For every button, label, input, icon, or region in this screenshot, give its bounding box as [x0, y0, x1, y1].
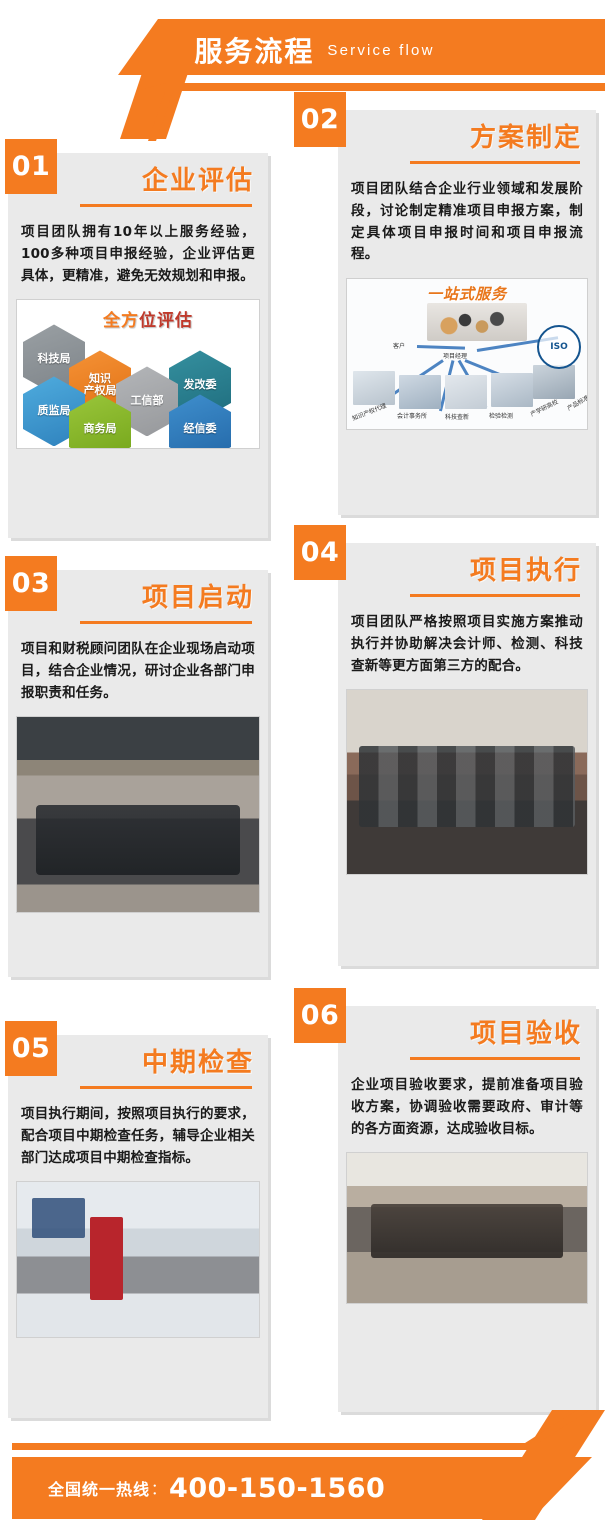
card-title: 方案制定: [352, 124, 582, 154]
step-number-badge: 05: [5, 1021, 57, 1076]
card-title: 项目执行: [352, 557, 582, 587]
card-title: 项目验收: [352, 1020, 582, 1050]
caption-part-b: 位评估: [139, 311, 193, 331]
title-underline: [410, 1057, 580, 1060]
card-header: 项目执行: [338, 543, 596, 597]
flow-node-label-project-manager: 项目经理: [443, 351, 467, 360]
step-number-badge: 03: [5, 556, 57, 611]
hotline-label: 全国统一热线: [48, 1476, 150, 1500]
step-card-03[interactable]: 03 项目启动 项目和财税顾问团队在企业现场启动项目，结合企业情况，研讨企业各部…: [8, 570, 268, 977]
flow-node-university: [533, 365, 575, 399]
card-body-text: 项目执行期间，按照项目执行的要求，配合项目中期检查任务，辅导企业相关部门达成项目…: [21, 1104, 255, 1170]
title-underline: [80, 1086, 252, 1089]
card-media-photo: [16, 1181, 260, 1338]
iso-seal-icon: ISO: [537, 325, 581, 369]
hotline-group: 全国统一热线 ： 400-150-1560: [48, 1468, 385, 1508]
hotline-phone-number[interactable]: 400-150-1560: [169, 1473, 385, 1504]
flow-node-label-customer: 客户: [393, 341, 405, 350]
step-number-badge: 06: [294, 988, 346, 1043]
photo-lobby-tour: [17, 1182, 259, 1337]
header-accent-stripe: [136, 83, 605, 91]
flow-caption-university: 产学研高校: [529, 397, 560, 418]
card-body-text: 项目团队严格按照项目实施方案推动执行并协助解决会计师、检测、科技查新等更方面第三…: [351, 612, 583, 678]
photo-working-meeting: [347, 690, 587, 874]
step-number-badge: 04: [294, 525, 346, 580]
photo-boardroom: [347, 1153, 587, 1303]
photo-conference-room: [17, 717, 259, 912]
card-media-photo: [16, 716, 260, 913]
title-underline: [410, 594, 580, 597]
hotline-separator: ：: [151, 1478, 166, 1499]
service-flow-hero-photo: [427, 303, 527, 341]
page-title-cn: 服务流程: [194, 30, 314, 70]
step-card-01[interactable]: 01 企业评估 项目团队拥有10年以上服务经验，100多种项目申报经验，企业评估…: [8, 153, 268, 538]
card-media-photo: [346, 689, 588, 875]
flow-arrow: [417, 345, 465, 350]
card-media-hexagon-diagram: 全方位评估 科技局 知识 产权局 发改委 质监局 工信部 商务局 经信委: [16, 299, 260, 449]
flow-caption-tech-search: 科技查新: [445, 412, 469, 421]
title-underline: [410, 161, 580, 164]
page-title-en: Service flow: [327, 42, 434, 59]
service-flow-caption: 一站式服务: [427, 283, 507, 304]
step-card-04[interactable]: 04 项目执行 项目团队严格按照项目实施方案推动执行并协助解决会计师、检测、科技…: [338, 543, 596, 966]
footer-accent-stripe: [12, 1443, 577, 1450]
step-number-badge: 02: [294, 92, 346, 147]
flow-node-inspection: [491, 373, 533, 407]
step-card-05[interactable]: 05 中期检查 项目执行期间，按照项目执行的要求，配合项目中期检查任务，辅导企业…: [8, 1035, 268, 1418]
step-card-02[interactable]: 02 方案制定 项目团队结合企业行业领域和发展阶段，讨论制定精准项目申报方案，制…: [338, 110, 596, 515]
header-title-group: 服务流程 Service flow: [0, 28, 605, 72]
flow-node-ip-agency: [353, 371, 395, 405]
card-media-photo: [346, 1152, 588, 1304]
service-flow-diagram: 一站式服务 客户 项目经理 ISO 知识产权代理 会计事务所 科技查新: [346, 278, 588, 430]
card-body-text: 企业项目验收要求，提前准备项目验收方案，协调验收需要政府、审计等的各方面资源，达…: [351, 1075, 583, 1141]
flow-node-tech-search: [445, 375, 487, 409]
title-underline: [80, 204, 252, 207]
hexagon-diagram: 全方位评估 科技局 知识 产权局 发改委 质监局 工信部 商务局 经信委: [17, 300, 259, 448]
title-underline: [80, 621, 252, 624]
card-body-text: 项目团队拥有10年以上服务经验，100多种项目申报经验，企业评估更具体，更精准，…: [21, 222, 255, 288]
hexagon-diagram-caption: 全方位评估: [103, 306, 193, 331]
card-media-service-flow-diagram: 一站式服务 客户 项目经理 ISO 知识产权代理 会计事务所 科技查新: [346, 278, 588, 430]
card-body-text: 项目和财税顾问团队在企业现场启动项目，结合企业情况，研讨企业各部门申报职责和任务…: [21, 639, 255, 705]
flow-caption-accounting: 会计事务所: [397, 411, 427, 420]
flow-node-accounting: [399, 375, 441, 409]
card-header: 方案制定: [338, 110, 596, 164]
caption-part-a: 全方: [103, 311, 139, 331]
step-card-06[interactable]: 06 项目验收 企业项目验收要求，提前准备项目验收方案，协调验收需要政府、审计等…: [338, 1006, 596, 1412]
flow-caption-inspection: 检验检测: [489, 411, 513, 420]
card-body-text: 项目团队结合企业行业领域和发展阶段，讨论制定精准项目申报方案，制定具体项目申报时…: [351, 179, 583, 266]
card-header: 项目验收: [338, 1006, 596, 1060]
step-number-badge: 01: [5, 139, 57, 194]
infographic-canvas: 服务流程 Service flow 01 企业评估 项目团队拥有10年以上服务经…: [0, 0, 605, 1538]
